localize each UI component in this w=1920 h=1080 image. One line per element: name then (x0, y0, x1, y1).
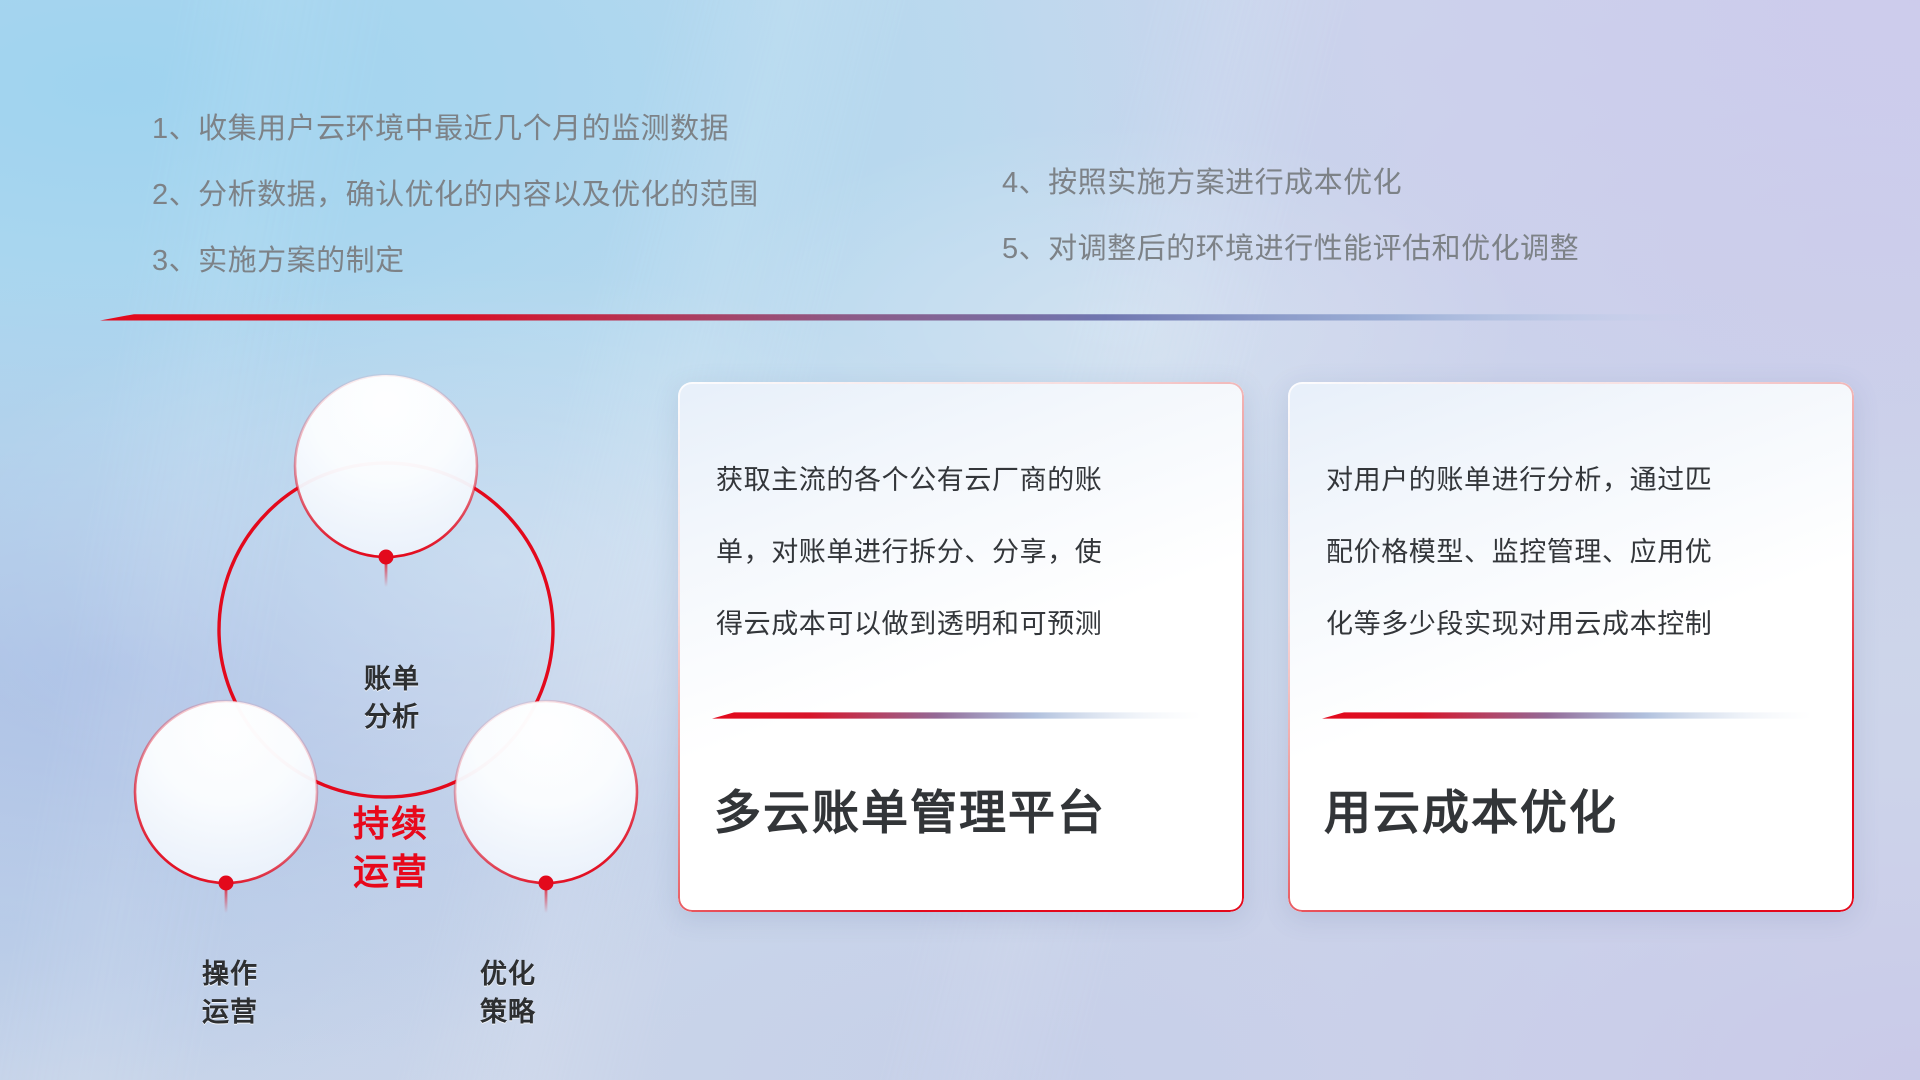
card-multi-cloud-billing[interactable]: 获取主流的各个公有云厂商的账 单，对账单进行拆分、分享，使 得云成本可以做到透明… (678, 382, 1244, 912)
card-2-accent-rule (1322, 710, 1812, 720)
venn-label-optimization-strategy: 优化 策略 (418, 955, 598, 1031)
venn-label-left-line1: 操作 (140, 955, 320, 993)
venn-dot-right (539, 876, 554, 891)
divider-shape (100, 310, 1720, 326)
venn-center-line2: 运营 (286, 848, 496, 896)
card-2-body-line-2: 配价格模型、监控管理、应用优 (1326, 516, 1820, 588)
venn-label-operations: 操作 运营 (140, 955, 320, 1031)
venn-label-left-line2: 运营 (140, 993, 320, 1031)
card-1-description: 获取主流的各个公有云厂商的账 单，对账单进行拆分、分享，使 得云成本可以做到透明… (716, 444, 1210, 660)
section-divider (100, 310, 1720, 326)
card-1-body-line-2: 单，对账单进行拆分、分享，使 (716, 516, 1210, 588)
card-2-body-line-3: 化等多少段实现对用云成本控制 (1326, 588, 1820, 660)
venn-label-right-line1: 优化 (418, 955, 598, 993)
card-1-body-line-1: 获取主流的各个公有云厂商的账 (716, 444, 1210, 516)
card-2-rule-shape (1322, 710, 1812, 720)
card-1-title: 多云账单管理平台 (714, 774, 1224, 843)
card-1-body-line-3: 得云成本可以做到透明和可预测 (716, 588, 1210, 660)
venn-dot-top (379, 550, 394, 565)
card-cloud-cost-optimization[interactable]: 对用户的账单进行分析，通过匹 配价格模型、监控管理、应用优 化等多少段实现对用云… (1288, 382, 1854, 912)
venn-dot-left (219, 876, 234, 891)
step-item-3: 3、实施方案的制定 (152, 228, 759, 294)
step-item-1: 1、收集用户云环境中最近几个月的监测数据 (152, 96, 759, 162)
step-item-5: 5、对调整后的环境进行性能评估和优化调整 (1002, 216, 1579, 282)
steps-list-left: 1、收集用户云环境中最近几个月的监测数据 2、分析数据，确认优化的内容以及优化的… (152, 96, 759, 294)
venn-label-billing-analysis: 账单 分析 (302, 660, 482, 736)
venn-label-top-line1: 账单 (302, 660, 482, 698)
venn-center-label: 持续 运营 (286, 800, 496, 896)
card-2-description: 对用户的账单进行分析，通过匹 配价格模型、监控管理、应用优 化等多少段实现对用云… (1326, 444, 1820, 660)
venn-label-top-line2: 分析 (302, 698, 482, 736)
step-item-2: 2、分析数据，确认优化的内容以及优化的范围 (152, 162, 759, 228)
card-1-accent-rule (712, 710, 1202, 720)
card-1-rule-shape (712, 710, 1202, 720)
venn-center-line1: 持续 (286, 800, 496, 848)
card-2-title: 用云成本优化 (1324, 774, 1834, 843)
step-item-4: 4、按照实施方案进行成本优化 (1002, 150, 1579, 216)
venn-label-right-line2: 策略 (418, 993, 598, 1031)
steps-list-right: 4、按照实施方案进行成本优化 5、对调整后的环境进行性能评估和优化调整 (1002, 150, 1579, 282)
continuous-operations-diagram: 账单 分析 操作 运营 优化 策略 持续 运营 (96, 330, 676, 950)
card-2-body-line-1: 对用户的账单进行分析，通过匹 (1326, 444, 1820, 516)
venn-bubble-top (295, 375, 477, 557)
